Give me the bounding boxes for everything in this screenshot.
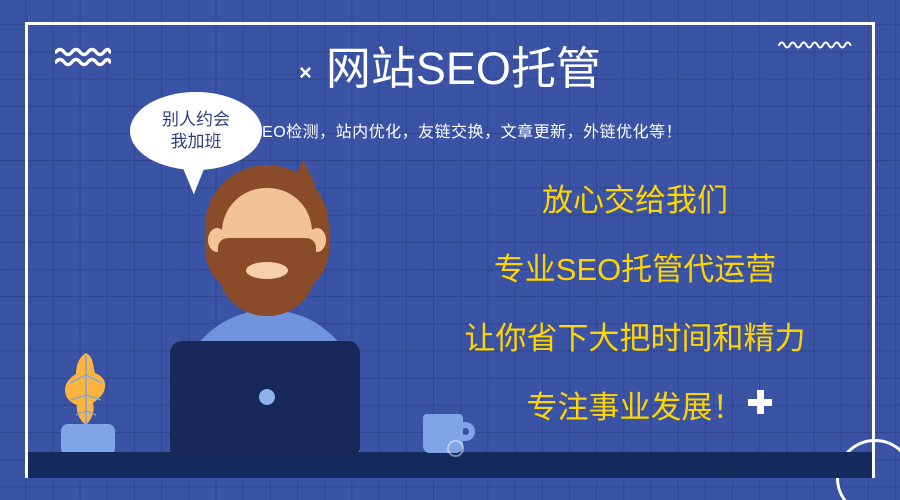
speech-bubble: 别人约会 我加班 <box>130 92 262 170</box>
promo-message-line: 让你省下大把时间和精力 <box>400 323 870 354</box>
plant-pot <box>61 424 115 453</box>
laptop-logo-dot <box>259 389 275 405</box>
promo-message-line: 专注事业发展！ <box>400 392 870 423</box>
desk-surface <box>28 452 872 478</box>
seo-promo-banner: × 网站SEO托管 含：SEO检测，站内优化，友链交换，文章更新，外链优化等！ … <box>0 0 900 500</box>
mug-ring-deco <box>447 440 464 457</box>
mouth <box>246 262 288 279</box>
promo-message-list: 放心交给我们 专业SEO托管代运营 让你省下大把时间和精力 专注事业发展！ <box>400 185 870 423</box>
speech-bubble-line-2: 我加班 <box>171 131 222 153</box>
potted-plant-icon <box>62 351 108 429</box>
speech-bubble-line-1: 别人约会 <box>162 109 230 131</box>
promo-message-line: 放心交给我们 <box>400 185 870 216</box>
promo-message-line: 专业SEO托管代运营 <box>400 254 870 285</box>
